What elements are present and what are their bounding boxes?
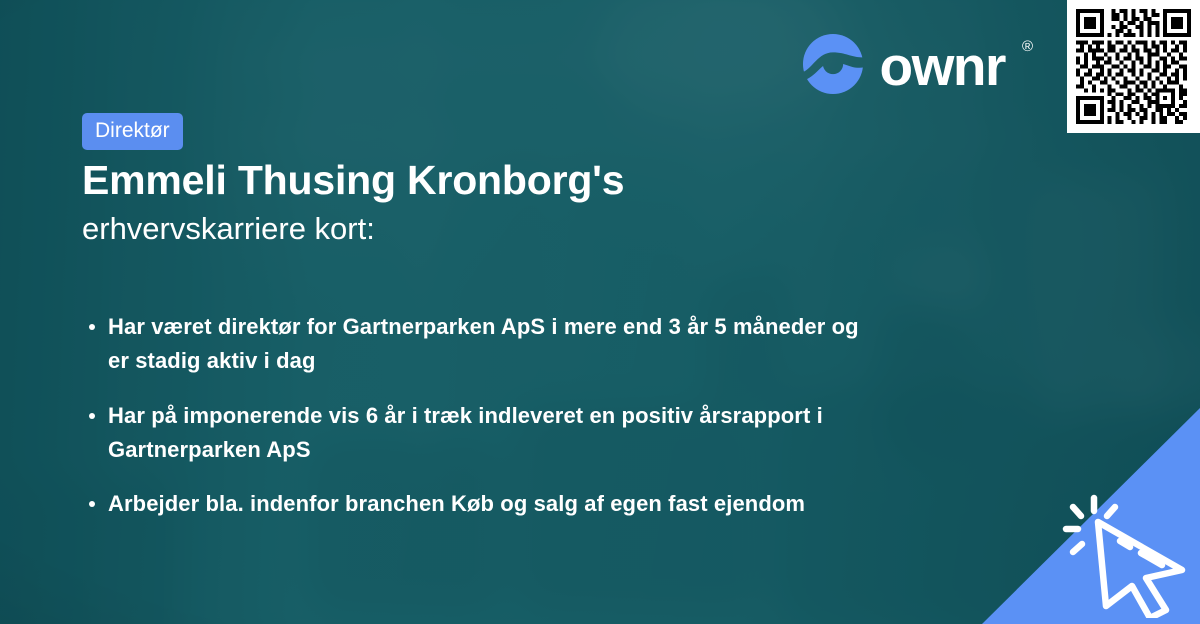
- list-item-label: Arbejder bla. indenfor branchen Køb og s…: [108, 491, 805, 516]
- list-item-label: Har været direktør for Gartnerparken ApS…: [108, 314, 859, 373]
- list-item-label: Har på imponerende vis 6 år i træk indle…: [108, 403, 823, 462]
- bullet-icon: [89, 501, 95, 507]
- facts-list: Har været direktør for Gartnerparken ApS…: [82, 310, 882, 542]
- list-item: Har på imponerende vis 6 år i træk indle…: [82, 399, 882, 468]
- registered-trademark-icon: ®: [1022, 38, 1033, 55]
- bullet-icon: [89, 324, 95, 330]
- list-item: Arbejder bla. indenfor branchen Køb og s…: [82, 487, 882, 521]
- list-item: Har været direktør for Gartnerparken ApS…: [82, 310, 882, 379]
- qr-code[interactable]: [1067, 0, 1200, 133]
- content-column: Direktør Emmeli Thusing Kronborg's erhve…: [82, 0, 922, 624]
- role-badge: Direktør: [82, 113, 183, 150]
- click-cursor-icon: [1058, 482, 1194, 618]
- career-card: ownr ®: [0, 0, 1200, 624]
- page-subtitle: erhvervskarriere kort:: [82, 210, 375, 247]
- page-title: Emmeli Thusing Kronborg's: [82, 158, 624, 204]
- bullet-icon: [89, 413, 95, 419]
